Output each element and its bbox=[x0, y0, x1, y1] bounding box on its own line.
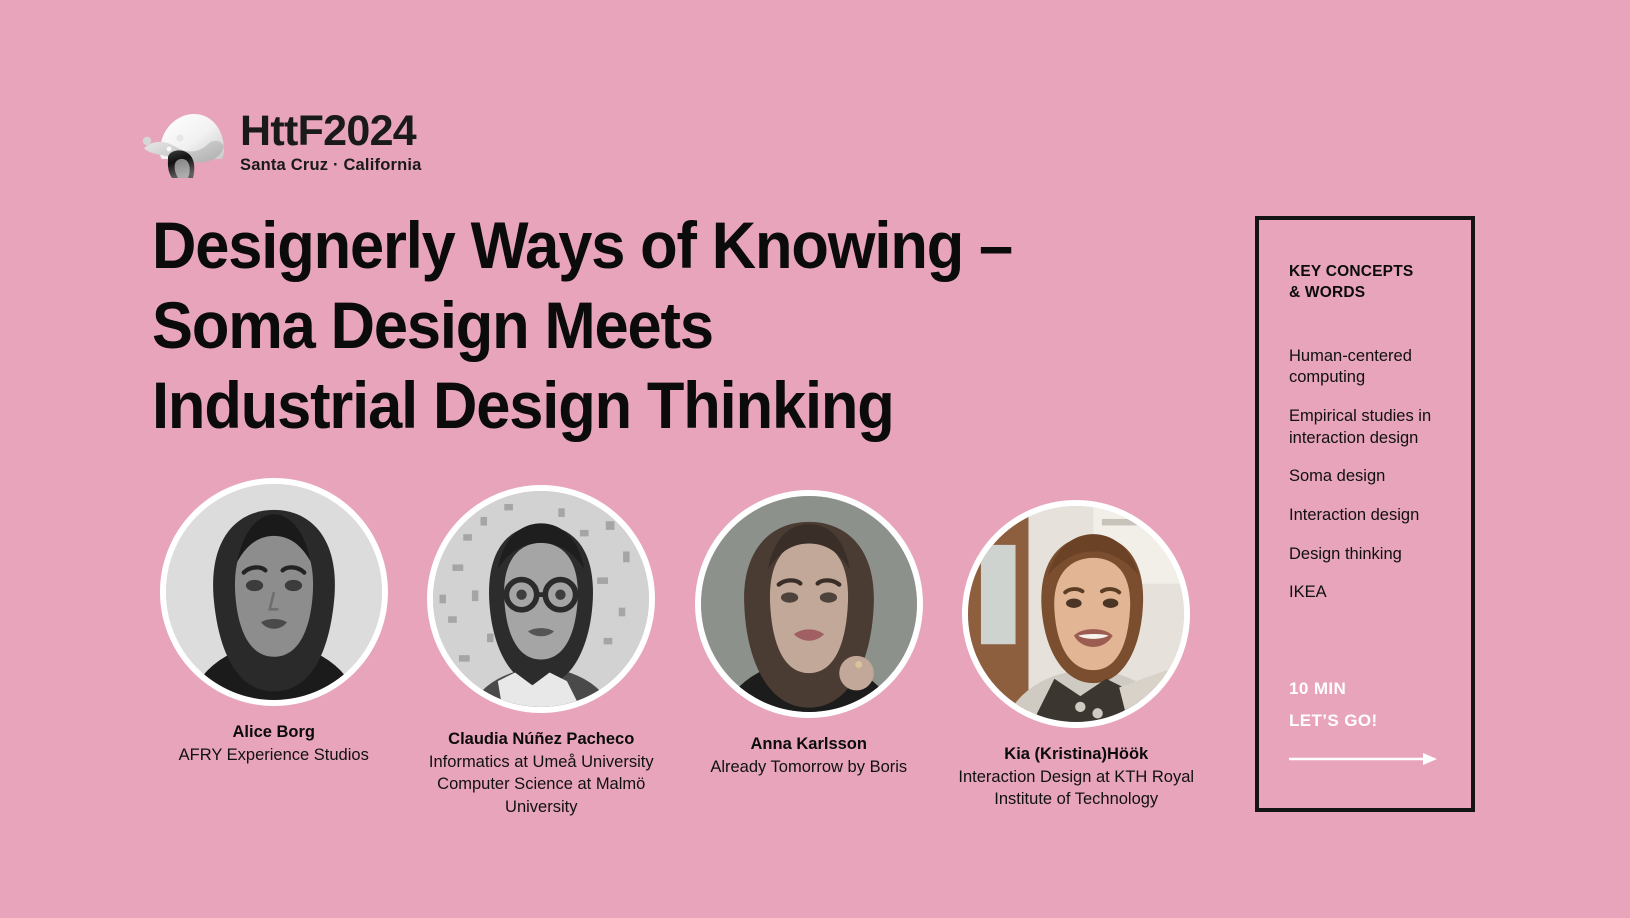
list-item: IKEA bbox=[1289, 582, 1449, 604]
concepts-list: Human-centered computing Empirical studi… bbox=[1289, 346, 1471, 604]
portrait-anna-karlsson bbox=[695, 490, 923, 718]
list-item: Human-centered computing bbox=[1289, 346, 1449, 389]
portrait-kia-hook bbox=[962, 500, 1190, 728]
logo-text: HttF2024 Santa Cruz · California bbox=[240, 110, 422, 175]
logo-wordmark: HttF2024 bbox=[240, 110, 422, 153]
concepts-heading: KEY CONCEPTS & WORDS bbox=[1289, 262, 1471, 304]
speaker-card: Alice Borg AFRY Experience Studios bbox=[140, 478, 408, 766]
speaker-affiliation: Informatics at Umeå University Computer … bbox=[410, 751, 672, 818]
timer-call-to-action: LET’S GO! bbox=[1289, 705, 1437, 736]
page-title: Designerly Ways of Knowing – Soma Design… bbox=[152, 206, 1138, 446]
speaker-name: Anna Karlsson bbox=[751, 734, 867, 756]
portrait-claudia-nunez-pacheco bbox=[427, 485, 655, 713]
speaker-affiliation: AFRY Experience Studios bbox=[179, 744, 369, 766]
speaker-card: Claudia Núñez Pacheco Informatics at Ume… bbox=[408, 485, 676, 818]
title-line-3: Industrial Design Thinking bbox=[152, 366, 1138, 446]
speaker-affiliation: Already Tomorrow by Boris bbox=[710, 756, 907, 778]
list-item: Empirical studies in interaction design bbox=[1289, 406, 1449, 449]
list-item: Design thinking bbox=[1289, 544, 1449, 566]
speakers-row: Alice Borg AFRY Experience Studios bbox=[140, 478, 1210, 818]
timer-block: 10 MIN LET’S GO! bbox=[1289, 673, 1437, 766]
speaker-name: Claudia Núñez Pacheco bbox=[448, 729, 634, 751]
key-concepts-panel: KEY CONCEPTS & WORDS Human-centered comp… bbox=[1255, 216, 1475, 812]
speaker-card: Kia (Kristina)Höök Interaction Design at… bbox=[943, 500, 1211, 811]
arrow-right-icon bbox=[1289, 752, 1437, 766]
speaker-card: Anna Karlsson Already Tomorrow by Boris bbox=[675, 490, 943, 778]
list-item: Interaction design bbox=[1289, 505, 1449, 527]
portrait-alice-borg bbox=[160, 478, 388, 706]
list-item: Soma design bbox=[1289, 466, 1449, 488]
speaker-name: Kia (Kristina)Höök bbox=[1004, 744, 1148, 766]
timer-duration: 10 MIN bbox=[1289, 673, 1437, 704]
speaker-affiliation: Interaction Design at KTH Royal Institut… bbox=[945, 766, 1207, 811]
logo-tagline: Santa Cruz · California bbox=[240, 156, 422, 175]
title-line-2: Soma Design Meets bbox=[152, 286, 1138, 366]
wave-shell-logo-icon bbox=[138, 108, 230, 180]
speaker-name: Alice Borg bbox=[232, 722, 315, 744]
title-line-1: Designerly Ways of Knowing – bbox=[152, 206, 1138, 286]
brand-logo: HttF2024 Santa Cruz · California bbox=[138, 106, 422, 180]
